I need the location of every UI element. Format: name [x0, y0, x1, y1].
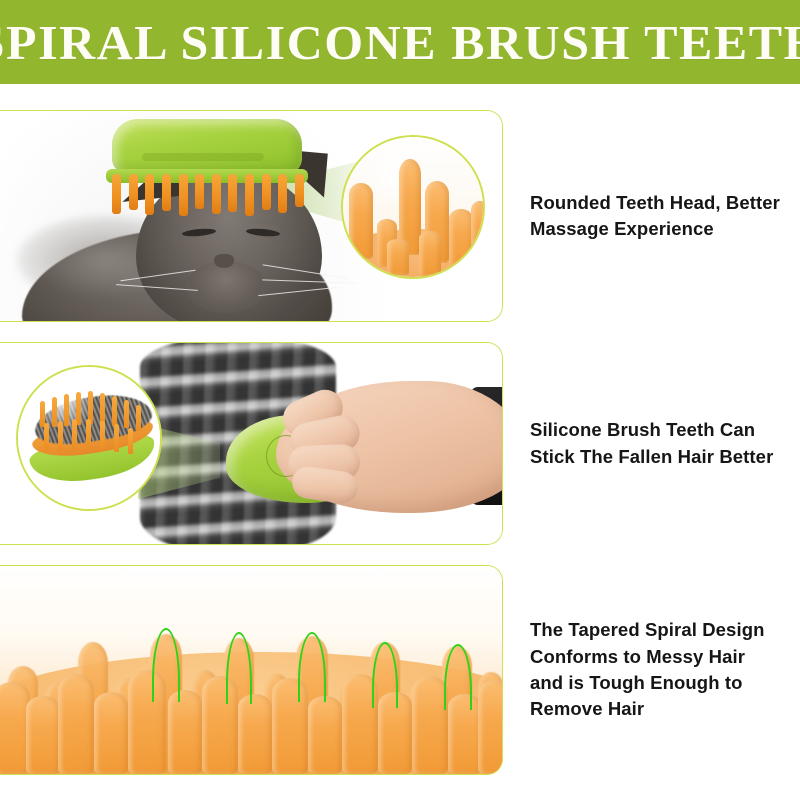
- caption-line: The Tapered Spiral Design: [530, 617, 794, 643]
- brush-tooth: [308, 696, 342, 774]
- callout-circle-2: [16, 365, 162, 511]
- silicone-brush-teeth-row: [112, 174, 304, 218]
- cat-muzzle: [186, 261, 266, 313]
- callout-tooth: [136, 405, 141, 431]
- callout-tooth: [419, 231, 441, 277]
- brush-tooth: [278, 174, 287, 213]
- callout-tooth: [114, 424, 119, 452]
- brush-tooth: [212, 174, 221, 214]
- brush-tooth: [238, 694, 272, 774]
- callout-tooth: [86, 419, 91, 450]
- feature-image-panel-1: [0, 110, 503, 322]
- cat-nose: [214, 254, 234, 268]
- brush-tooth: [145, 174, 154, 215]
- feature-image-panel-2: [0, 342, 503, 545]
- brush-tooth: [168, 690, 202, 774]
- feature-caption-3: The Tapered Spiral Design Conforms to Me…: [503, 617, 800, 722]
- header-banner: SPIRAL SILICONE BRUSH TEETH: [0, 0, 800, 84]
- caption-line: and is Tough Enough to: [530, 670, 794, 696]
- brush-tooth: [179, 174, 188, 216]
- callout-tooth: [112, 396, 117, 426]
- callout-tooth: [471, 201, 485, 259]
- callout-tooth: [64, 394, 69, 426]
- feature-caption-1: Rounded Teeth Head, Better Massage Exper…: [503, 190, 800, 243]
- feature-caption-2: Silicone Brush Teeth Can Stick The Falle…: [503, 417, 800, 470]
- silicone-brush-body: [112, 119, 302, 173]
- caption-line: Massage Experience: [530, 216, 794, 242]
- brush-tooth: [112, 174, 121, 214]
- caption-line: Conforms to Messy Hair: [530, 644, 794, 670]
- caption-line: Stick The Fallen Hair Better: [530, 444, 794, 470]
- callout-circle-1: [341, 135, 485, 279]
- callout-tooth: [124, 400, 129, 428]
- callout-tooth: [44, 423, 49, 451]
- brush-tooth: [195, 174, 204, 209]
- callout-tooth: [58, 421, 63, 451]
- product-infographic: SPIRAL SILICONE BRUSH TEETH: [0, 0, 800, 800]
- feature-row-sticks-fallen-hair: Silicone Brush Teeth Can Stick The Falle…: [0, 342, 800, 545]
- brush-tooth: [412, 676, 448, 774]
- brush-tooth: [228, 174, 237, 212]
- brush-tooth: [478, 680, 503, 774]
- callout-tooth: [100, 421, 105, 451]
- callout-tooth: [52, 397, 57, 427]
- brush-tooth: [262, 174, 271, 210]
- callout-tooth: [72, 419, 77, 450]
- feature-row-rounded-teeth-head: Rounded Teeth Head, Better Massage Exper…: [0, 110, 800, 322]
- caption-line: Remove Hair: [530, 696, 794, 722]
- callout-tooth: [128, 428, 133, 454]
- callout-tooth: [387, 239, 409, 275]
- page-title: SPIRAL SILICONE BRUSH TEETH: [0, 18, 800, 67]
- feature-image-panel-3: [0, 565, 503, 775]
- brush-tooth: [245, 174, 254, 216]
- brush-tooth: [129, 174, 138, 210]
- brush-tooth: [26, 696, 60, 774]
- brush-tooth: [58, 674, 94, 774]
- callout-tooth: [449, 209, 473, 271]
- feature-row-tapered-spiral-design: The Tapered Spiral Design Conforms to Me…: [0, 565, 800, 775]
- brush-tooth: [94, 692, 128, 774]
- brush-tooth: [162, 174, 171, 211]
- callout-tooth: [349, 183, 373, 259]
- brush-tooth: [295, 174, 304, 207]
- caption-line: Rounded Teeth Head, Better: [530, 190, 794, 216]
- caption-line: Silicone Brush Teeth Can: [530, 417, 794, 443]
